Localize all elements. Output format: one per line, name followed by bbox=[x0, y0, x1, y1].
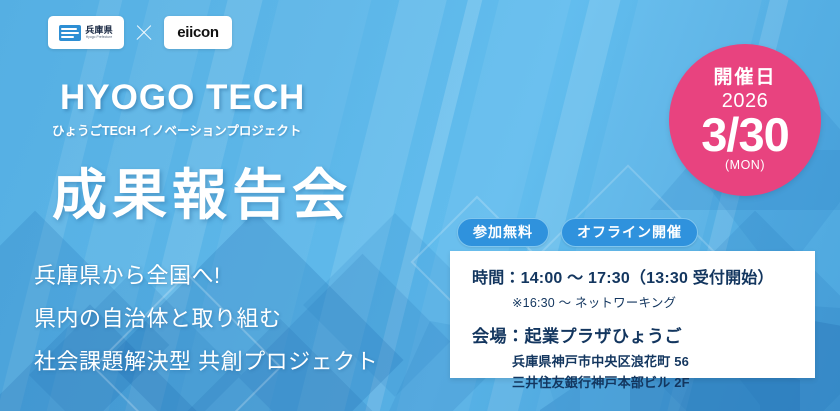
date-day: 3/30 bbox=[701, 113, 788, 156]
event-tags: 参加無料 オフライン開催 bbox=[457, 218, 698, 247]
eiicon-logo-text: eiicon bbox=[177, 24, 219, 41]
date-day-of-week: (MON) bbox=[725, 158, 765, 172]
event-main-title: 成果報告会 bbox=[52, 150, 352, 230]
badge-free-entry: 参加無料 bbox=[457, 218, 549, 247]
program-subtitle: ひょうごTECH イノベーションプロジェクト bbox=[52, 120, 301, 139]
hyogo-wave-mark-icon bbox=[59, 25, 81, 41]
cross-separator-icon bbox=[134, 23, 154, 43]
event-banner: 兵庫県 Hyogo Prefecture eiicon HYOGO TECH ひ… bbox=[0, 0, 840, 411]
badge-offline-event: オフライン開催 bbox=[561, 218, 698, 247]
event-venue: 会場：起業プラザひょうご bbox=[472, 322, 815, 347]
eiicon-logo[interactable]: eiicon bbox=[164, 16, 232, 49]
date-label: 開催日 bbox=[713, 68, 776, 87]
hyogo-logo-text: 兵庫県 Hyogo Prefecture bbox=[85, 26, 113, 40]
event-details-box: 時間：14:00 〜 17:30（13:30 受付開始） ※16:30 〜 ネッ… bbox=[450, 251, 815, 378]
tagline-block: 兵庫県から全国へ! 県内の自治体と取り組む 社会課題解決型 共創プロジェクト bbox=[34, 258, 378, 387]
event-time: 時間：14:00 〜 17:30（13:30 受付開始） bbox=[472, 264, 815, 288]
program-title: HYOGO TECH bbox=[60, 78, 305, 118]
hyogo-logo-en: Hyogo Prefecture bbox=[86, 36, 112, 39]
event-venue-address-line-2: 三井住友銀行神戸本部ビル 2F bbox=[512, 372, 815, 391]
event-date-badge: 開催日 2026 3/30 (MON) bbox=[669, 44, 821, 196]
event-venue-address-line-1: 兵庫県神戸市中央区浪花町 56 bbox=[512, 351, 815, 370]
tagline-line-2: 県内の自治体と取り組む bbox=[34, 301, 378, 333]
hyogo-logo-jp: 兵庫県 bbox=[85, 26, 113, 35]
logo-row: 兵庫県 Hyogo Prefecture eiicon bbox=[48, 16, 232, 49]
tagline-line-1: 兵庫県から全国へ! bbox=[34, 258, 378, 290]
tagline-line-3: 社会課題解決型 共創プロジェクト bbox=[34, 344, 378, 376]
hyogo-prefecture-logo[interactable]: 兵庫県 Hyogo Prefecture bbox=[48, 16, 124, 49]
event-time-note: ※16:30 〜 ネットワーキング bbox=[512, 292, 815, 311]
